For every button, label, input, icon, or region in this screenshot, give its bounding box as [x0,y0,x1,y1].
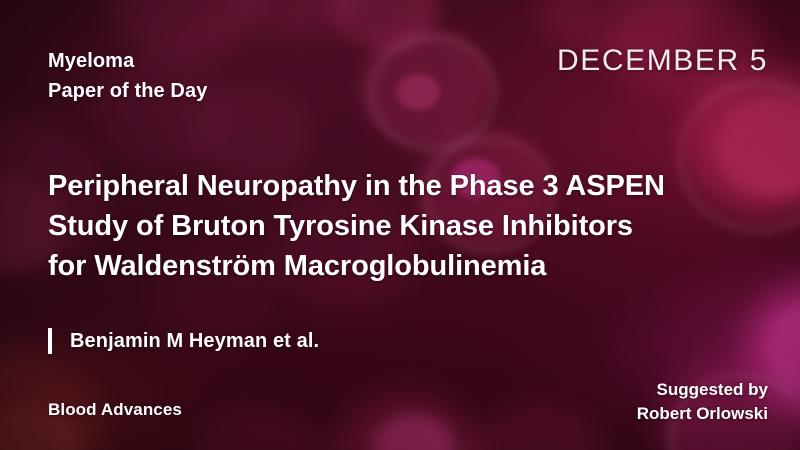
paper-title-line-1: Peripheral Neuropathy in the Phase 3 ASP… [48,166,665,206]
publication-date: DECEMBER 5 [557,44,768,78]
journal-name: Blood Advances [48,400,182,420]
paper-title-line-2: Study of Bruton Tyrosine Kinase Inhibito… [48,206,665,246]
series-kicker-line-1: Myeloma [48,46,207,76]
author-name: Benjamin M Heyman et al. [70,330,319,353]
paper-of-the-day-card: Myeloma Paper of the Day DECEMBER 5 Peri… [0,0,800,450]
suggested-by-label: Suggested by [637,378,768,402]
series-kicker-line-2: Paper of the Day [48,76,207,106]
author-byline: Benjamin M Heyman et al. [48,328,319,354]
byline-accent-rule [48,328,52,354]
paper-title: Peripheral Neuropathy in the Phase 3 ASP… [48,166,665,286]
series-kicker: Myeloma Paper of the Day [48,46,207,106]
suggested-by-block: Suggested by Robert Orlowski [637,378,768,426]
paper-title-line-3: for Waldenström Macroglobulinemia [48,246,665,286]
card-content: Myeloma Paper of the Day DECEMBER 5 Peri… [0,0,800,450]
suggested-by-name: Robert Orlowski [637,402,768,426]
